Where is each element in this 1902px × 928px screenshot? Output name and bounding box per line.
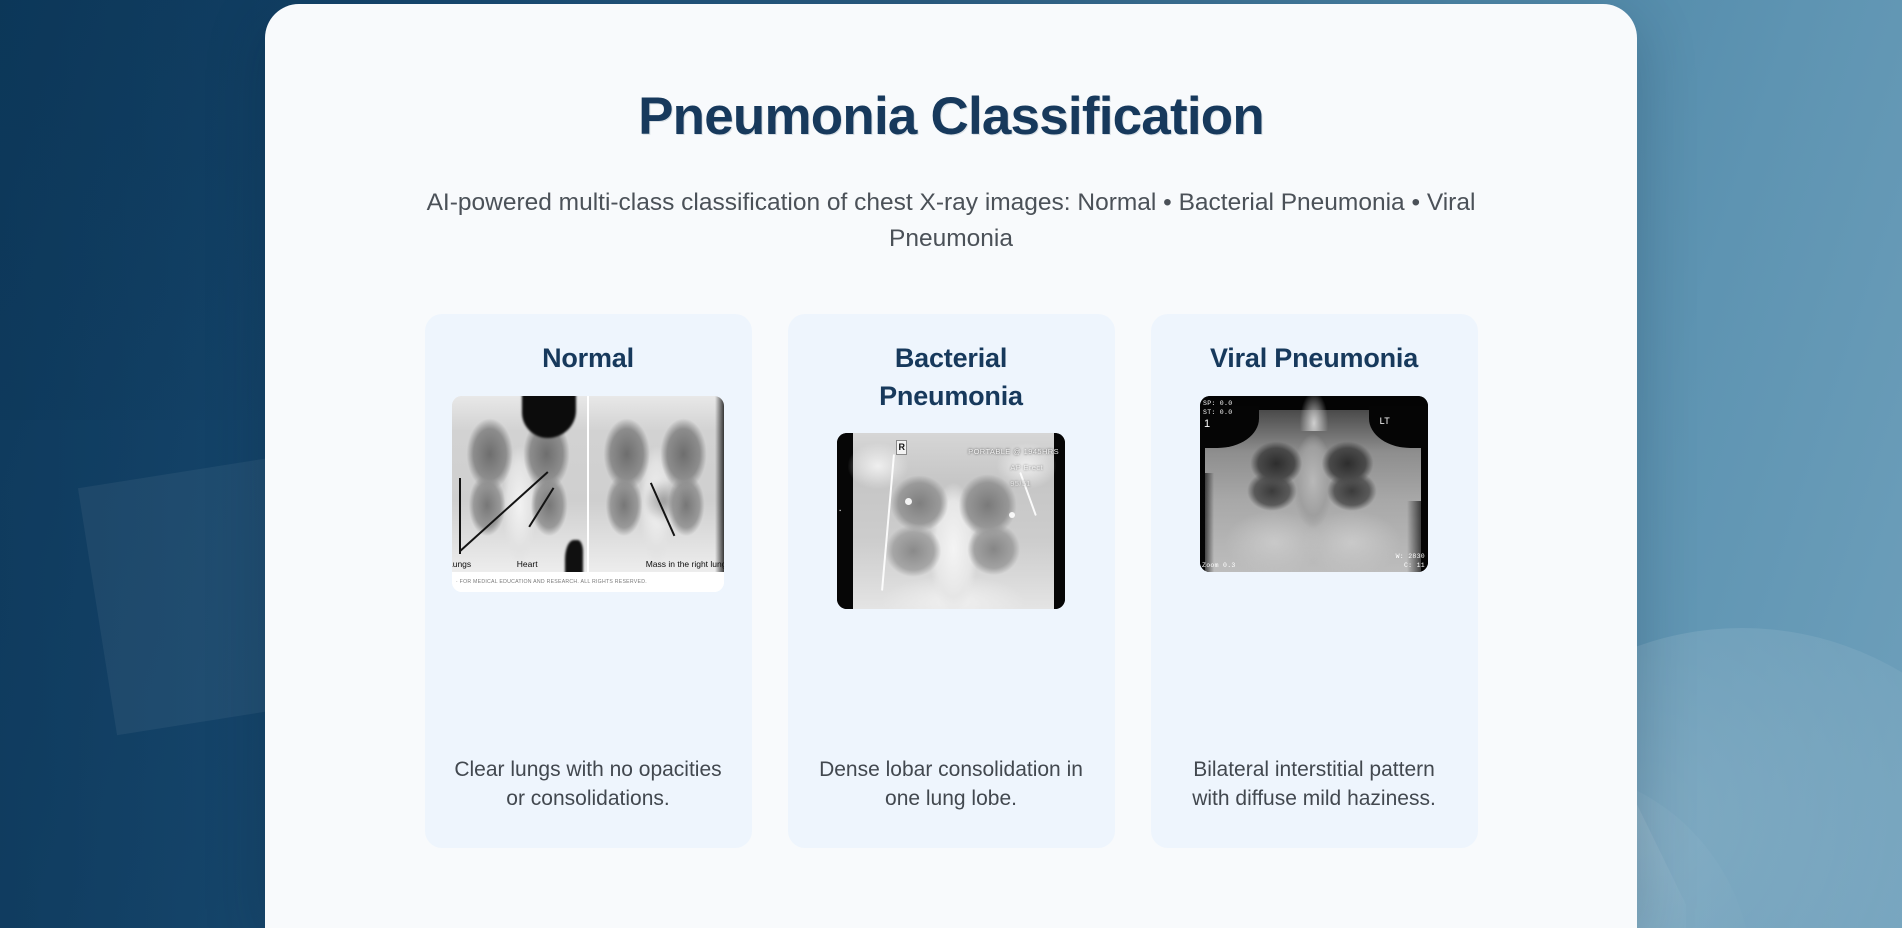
annotation-label-heart: Heart — [517, 559, 538, 569]
xray-image-viral: SP: 0.0 ST: 0.0 1 LT Zoom 0.3 W: 2830 C:… — [1200, 396, 1428, 572]
overlay-window-center: C: 11 — [1404, 562, 1425, 569]
annotation-label-lungs: Lungs — [452, 559, 471, 569]
overlay-laterality: LT — [1380, 416, 1390, 426]
radiograph-lead-electrode — [1009, 512, 1015, 518]
portable-radiograph: R ▪ PORTABLE @ 1945HRS AP Erect 95/51 — [837, 433, 1065, 609]
page-background: Pneumonia Classification AI-powered mult… — [0, 0, 1902, 928]
radiograph-dark-edge — [715, 396, 724, 572]
radiograph-dark-region-bottom — [565, 540, 583, 572]
class-card-row: Normal Lungs Heart — [325, 314, 1577, 848]
dicom-radiograph: SP: 0.0 ST: 0.0 1 LT Zoom 0.3 W: 2830 C:… — [1200, 396, 1428, 572]
radiograph-neck-region — [1300, 396, 1327, 431]
overlay-portable-time: PORTABLE @ 1945HRS — [968, 447, 1059, 456]
card-description-bacterial: Dense lobar consolidation in one lung lo… — [811, 730, 1091, 814]
annotation-leader-line-lungs — [459, 478, 461, 554]
radiograph-credit-text: · FOR MEDICAL EDUCATION AND RESEARCH. AL… — [452, 572, 724, 592]
radiograph-pane-left: Lungs Heart — [452, 396, 587, 572]
card-title-bacterial: Bacterial Pneumonia — [826, 340, 1076, 415]
class-card-normal[interactable]: Normal Lungs Heart — [425, 314, 752, 848]
class-card-bacterial[interactable]: Bacterial Pneumonia R ▪ PORTABLE @ 1945H… — [788, 314, 1115, 848]
card-title-normal: Normal — [542, 340, 634, 377]
card-title-viral: Viral Pneumonia — [1210, 340, 1418, 377]
card-description-viral: Bilateral interstitial pattern with diff… — [1174, 730, 1454, 814]
radiograph-pane-right: Mass in the right lung — [589, 396, 724, 572]
overlay-projection: AP Erect — [1010, 463, 1043, 472]
background-topleft-gradient — [0, 0, 300, 420]
page-title: Pneumonia Classification — [325, 88, 1577, 145]
radiograph-dark-edge-left — [1200, 473, 1214, 572]
overlay-window-width: W: 2830 — [1396, 553, 1425, 560]
overlay-blood-pressure: 95/51 — [1010, 479, 1031, 488]
xray-image-normal: Lungs Heart Mass in the right lung — [452, 396, 724, 592]
xray-image-bacterial: R ▪ PORTABLE @ 1945HRS AP Erect 95/51 — [837, 433, 1065, 609]
main-content-panel: Pneumonia Classification AI-powered mult… — [265, 4, 1637, 928]
class-card-viral[interactable]: Viral Pneumonia SP: 0.0 ST: 0.0 1 LT — [1151, 314, 1478, 848]
laterality-marker-r: R — [896, 440, 907, 455]
radiograph-edge-marker: ▪ — [839, 508, 841, 514]
overlay-series-number: 1 — [1204, 418, 1210, 430]
annotation-label-mass: Mass in the right lung — [646, 559, 724, 569]
overlay-slice-position: SP: 0.0 — [1203, 400, 1232, 407]
radiograph-pair: Lungs Heart Mass in the right lung — [452, 396, 724, 572]
page-subtitle: AI-powered multi-class classification of… — [381, 185, 1521, 256]
card-description-normal: Clear lungs with no opacities or consoli… — [448, 730, 728, 814]
overlay-slice-thickness: ST: 0.0 — [1203, 409, 1232, 416]
overlay-zoom-level: Zoom 0.3 — [1202, 562, 1236, 569]
